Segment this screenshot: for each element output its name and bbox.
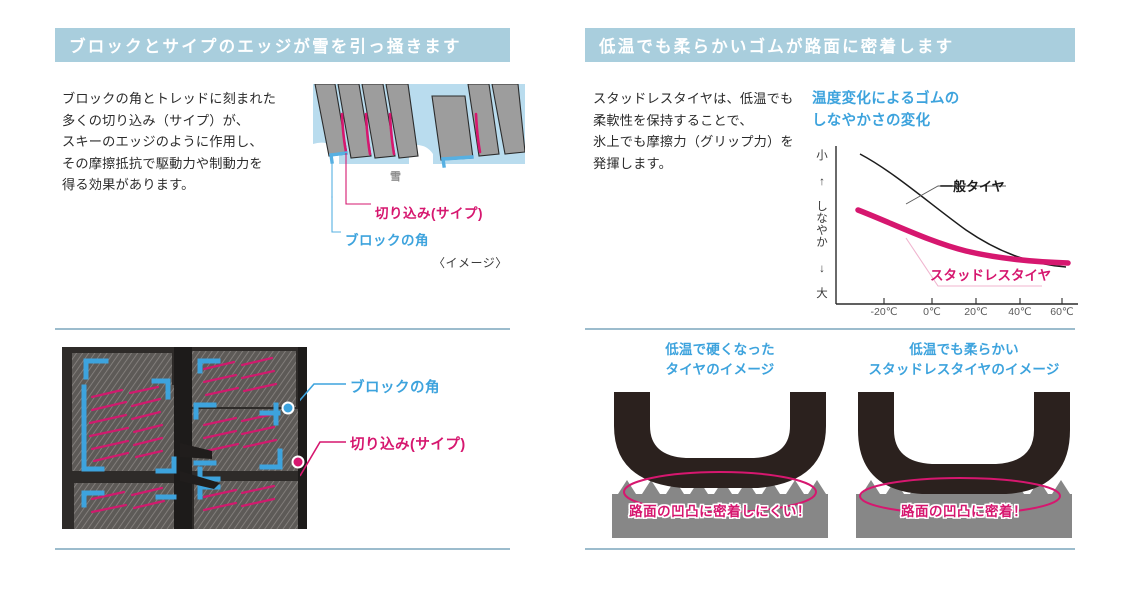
divider-left-bottom [55, 548, 510, 550]
chart-series-label-studless: スタッドレスタイヤ [930, 264, 1051, 284]
chart-title: 温度変化によるゴムの しなやかさの変化 [812, 88, 960, 132]
tire-card-hard: 低温で硬くなった タイヤのイメージ 路面の凹凸に密着しにくい！ [604, 340, 836, 540]
xtick-2: 20℃ [964, 306, 987, 318]
divider-right-top [585, 328, 1075, 330]
y-axis-top: 小 [816, 150, 828, 162]
tread-image-note: 〈イメージ〉 [433, 254, 508, 271]
tread-caption-sipe: 切り込み(サイプ) [375, 202, 483, 222]
tread-cross-section-icon [313, 84, 525, 199]
photo-callout-group: ブロックの角 切り込み(サイプ) [300, 360, 540, 480]
photo-callout-sipe: 切り込み(サイプ) [350, 433, 466, 454]
chart-y-axis-label: 小 ↑ しなやか ↓ 大 [812, 150, 832, 300]
y-axis-bottom-arrow: ↓ [819, 263, 825, 275]
y-axis-bottom: 大 [816, 288, 828, 300]
section-header-left-title: ブロックとサイプのエッジが雪を引っ掻きます [69, 33, 462, 57]
photo-callout-block-corner: ブロックの角 [350, 376, 440, 397]
tire-card-soft-caption: 低温でも柔らかい スタッドレスタイヤのイメージ [848, 340, 1080, 380]
photo-callout-dots [270, 390, 310, 480]
xtick-3: 40℃ [1008, 306, 1031, 318]
snow-label: 雪 [390, 168, 402, 184]
tire-hard-banner: 路面の凹凸に密着しにくい！ [604, 500, 836, 520]
xtick-0: -20℃ [871, 306, 898, 318]
tread-cross-section-figure: 雪 切り込み(サイプ) ブロックの角 〈イメージ〉 [313, 84, 525, 284]
left-column: ブロックとサイプのエッジが雪を引っ掻きます ブロックの角とトレッドに刻まれた 多… [0, 0, 561, 609]
chart-x-axis-ticks: -20℃ 0℃ 20℃ 40℃ 60℃ [834, 306, 1078, 326]
y-axis-top-arrow: ↑ [819, 176, 825, 188]
y-axis-mid: しなやか [816, 201, 828, 249]
tire-card-hard-caption: 低温で硬くなった タイヤのイメージ [604, 340, 836, 380]
xtick-1: 0℃ [923, 306, 941, 318]
section-header-left: ブロックとサイプのエッジが雪を引っ掻きます [55, 28, 510, 62]
section-header-right-title: 低温でも柔らかいゴムが路面に密着します [599, 33, 954, 57]
rubber-flexibility-chart: 温度変化によるゴムの しなやかさの変化 小 ↑ しなやか ↓ 大 [812, 88, 1080, 318]
divider-left-top [55, 328, 510, 330]
tread-caption-block-corner: ブロックの角 [345, 229, 429, 249]
divider-right-bottom [585, 548, 1075, 550]
tire-soft-banner: 路面の凹凸に密着！ [848, 500, 1080, 520]
right-body-paragraph: スタッドレスタイヤは、低温でも 柔軟性を保持することで、 氷上でも摩擦力（グリッ… [593, 88, 823, 174]
xtick-4: 60℃ [1050, 306, 1073, 318]
tire-card-soft: 低温でも柔らかい スタッドレスタイヤのイメージ 路面の凹凸に密着！ [848, 340, 1080, 540]
chart-series-label-general: 一般タイヤ [940, 176, 1005, 195]
right-column: 低温でも柔らかいゴムが路面に密着します スタッドレスタイヤは、低温でも 柔軟性を… [561, 0, 1123, 609]
left-body-paragraph: ブロックの角とトレッドに刻まれた 多くの切り込み（サイプ）が、 スキーのエッジの… [62, 88, 312, 196]
section-header-right: 低温でも柔らかいゴムが路面に密着します [585, 28, 1075, 62]
